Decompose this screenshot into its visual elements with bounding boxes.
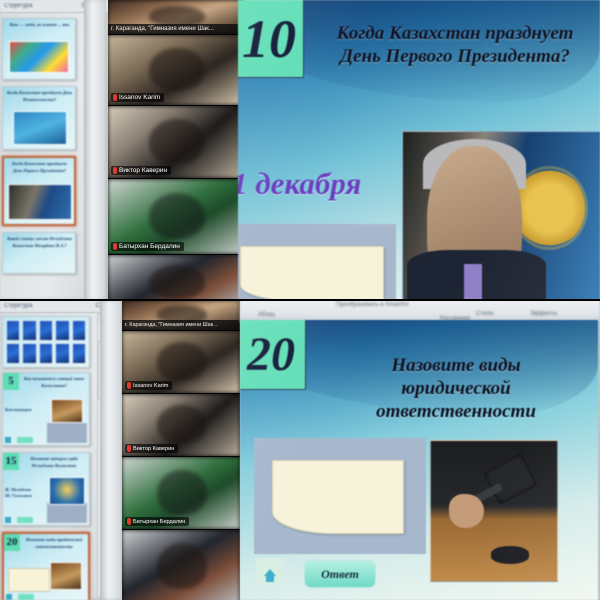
slide-question: Когда Казахстан празднует День Первого П… — [316, 22, 594, 68]
panel-seam — [84, 0, 106, 300]
zoom-tile[interactable]: Батырхан Бердалин — [108, 179, 243, 255]
slide-thumbnail[interactable]: Какой статус носит Республики Казахстан … — [2, 232, 76, 274]
thumbnail-picture — [8, 184, 72, 220]
thumbnail-question: Кто — люди, не имеют ... это — [6, 22, 73, 29]
participant-name: Issanov Karim — [133, 383, 168, 389]
participant-name: Виктор Каверин — [119, 167, 167, 174]
zoom-caption: г. Караганда, "Гимназия имени Шак... — [108, 24, 243, 34]
thumbnail-score: 20 — [4, 534, 20, 551]
zoom-caption: г. Караганда, "Гимназия имени Шак... — [122, 320, 240, 330]
slide-answer: 1 декабря — [238, 166, 361, 202]
slide-thumbnail-panel[interactable]: Структура Слайды 5 Как называется главны… — [0, 300, 122, 600]
participant-name-badge: Батырхан Бердалин — [111, 242, 184, 251]
zoom-tile[interactable]: Батырхан Бердалин — [122, 457, 240, 530]
photo-detail — [483, 453, 538, 505]
ribbon-item-label[interactable]: Преобразовать в SmartArt — [336, 302, 409, 308]
zoom-participant-strip[interactable]: г. Караганда, "Гимназия имени Шак... Iss… — [122, 300, 240, 600]
board-cell — [39, 320, 53, 341]
thumbnail-question: Когда Казахстан празднует День Независим… — [6, 90, 73, 104]
participant-name-badge: Issanov Karim — [111, 93, 164, 102]
photo-detail — [464, 264, 482, 300]
thumbnail-note — [8, 568, 50, 592]
slide-thumbnail-selected[interactable]: 20 Назовите виды юридической ответственн… — [2, 532, 90, 600]
thumbnail-picture — [13, 111, 67, 145]
mic-muted-icon — [127, 518, 131, 525]
slide-thumbnail[interactable]: Кто — люди, не имеют ... это — [2, 18, 76, 80]
participant-name-badge: Батырхан Бердалин — [125, 517, 189, 526]
score-box: 20 — [240, 320, 306, 390]
mic-muted-icon — [113, 94, 117, 101]
zoom-tile-host[interactable]: г. Караганда, "Гимназия имени Шак... — [108, 0, 243, 35]
zoom-tile[interactable]: Issanov Karim — [108, 35, 243, 106]
nazarbayev-flag-photo — [402, 131, 600, 300]
webcam-video — [108, 255, 243, 300]
zoom-tile[interactable]: Issanov Karim — [122, 331, 240, 394]
board-cell — [39, 343, 53, 364]
ribbon-group-label: Абзац — [258, 312, 275, 318]
top-photo: Структура Слайды Кто — люди, не имеют ..… — [0, 0, 600, 300]
thumbnail-question: Какой статус носит Республики Казахстан … — [6, 236, 73, 250]
participant-name-badge: Виктор Каверин — [125, 444, 178, 453]
board-cell — [72, 320, 86, 341]
slide-panel-tab-outline[interactable]: Структура — [4, 303, 32, 309]
thumbnail-answer: Ж. Малибеков Ш. Уалиханов — [5, 487, 32, 500]
zoom-tile-host[interactable]: г. Караганда, "Гимназия имени Шак... — [122, 300, 240, 331]
board-cell — [6, 343, 20, 364]
score-box: 10 — [238, 0, 304, 78]
slide-thumbnail[interactable]: 5 Как называется главный закон Казахстан… — [2, 372, 90, 446]
board-cell — [55, 320, 69, 341]
participant-name: Батырхан Бердалин — [133, 519, 185, 525]
mic-muted-icon — [113, 167, 117, 174]
webcam-video — [122, 530, 240, 600]
zoom-tile[interactable]: Виктор Каверин — [122, 394, 240, 457]
thumbnail-picture — [51, 399, 83, 423]
thumbnail-plate — [47, 423, 87, 443]
thumbnail-question: Назовите авторов герба Республики Казахс… — [21, 456, 87, 470]
slide-thumbnail-panel[interactable]: Структура Слайды Кто — люди, не имеют ..… — [0, 0, 108, 300]
thumbnail-question: Когда Казахстан празднует День Первого П… — [7, 161, 72, 175]
participant-name: Батырхан Бердалин — [119, 243, 180, 250]
participant-name-badge: Issanov Karim — [125, 381, 172, 390]
slide-panel-tab-outline[interactable]: Структура — [4, 3, 32, 9]
thumbnail-home-icon — [6, 594, 12, 600]
judge-gavel-photo — [430, 440, 558, 582]
board-cell — [22, 343, 36, 364]
home-button[interactable] — [256, 558, 284, 586]
mic-muted-icon — [127, 382, 131, 389]
zoom-tile[interactable] — [122, 530, 240, 600]
thumbnail-score: 15 — [3, 453, 19, 470]
zoom-participant-strip[interactable]: г. Караганда, "Гимназия имени Шак... Iss… — [108, 0, 243, 300]
presentation-slide-bottom[interactable]: 20 Назовите виды юридической ответственн… — [240, 320, 598, 600]
photo-detail — [491, 546, 529, 564]
board-cell — [55, 343, 69, 364]
answer-note — [272, 460, 404, 534]
thumbnail-answer-button — [18, 594, 34, 600]
zoom-tile[interactable]: Виктор Каверин — [108, 106, 243, 179]
thumbnail-picture — [9, 41, 69, 73]
screen-photo: Структура Слайды Кто — люди, не имеют ..… — [0, 0, 600, 600]
photo-divider — [0, 299, 600, 301]
thumbnail-answer-button — [17, 517, 33, 523]
participant-name-badge: Виктор Каверин — [111, 166, 171, 175]
ribbon-item-label[interactable]: Эффекты — [530, 311, 557, 317]
thumbnail-home-icon — [5, 517, 11, 523]
thumbnail-question: Назовите виды юридической ответственност… — [22, 537, 86, 551]
thumbnail-question: Как называется главный закон Казахстана? — [21, 376, 87, 390]
thumbnail-home-icon — [5, 437, 11, 443]
powerpoint-ribbon[interactable]: Абзац Преобразовать в SmartArt Стили Эфф… — [240, 300, 600, 322]
board-cell — [6, 320, 20, 341]
participant-name: Issanov Karim — [119, 94, 160, 101]
thumbnail-plate — [47, 503, 87, 523]
slide-thumbnail-board[interactable] — [2, 316, 90, 368]
answer-button[interactable]: Ответ — [304, 560, 376, 588]
slide-question: Назовите виды юридической ответственност… — [336, 354, 576, 424]
thumbnail-answer: Конституция — [5, 407, 31, 413]
bottom-photo: Структура Слайды 5 Как называется главны… — [0, 300, 600, 600]
thumbnail-picture — [49, 477, 85, 505]
board-cell — [72, 343, 86, 364]
ribbon-item-label[interactable]: Стили — [476, 311, 493, 317]
home-icon — [264, 569, 276, 576]
thumbnail-picture — [50, 562, 82, 590]
zoom-tile[interactable] — [108, 255, 243, 300]
photo-detail — [449, 494, 484, 528]
panel-seam — [100, 300, 122, 600]
presentation-slide-top[interactable]: 10 Когда Казахстан празднует День Первог… — [238, 0, 600, 300]
thumbnail-score: 5 — [3, 373, 19, 390]
slide-thumbnail-selected[interactable]: Когда Казахстан празднует День Первого П… — [2, 156, 76, 226]
slide-thumbnail[interactable]: 15 Назовите авторов герба Республики Каз… — [2, 452, 90, 526]
participant-name: Виктор Каверин — [133, 446, 174, 452]
slide-thumbnail[interactable]: Когда Казахстан празднует День Независим… — [2, 86, 76, 150]
answer-note — [240, 246, 384, 300]
mic-muted-icon — [127, 445, 131, 452]
board-cell — [22, 320, 36, 341]
mic-muted-icon — [113, 243, 117, 250]
thumbnail-answer-button — [17, 437, 33, 443]
